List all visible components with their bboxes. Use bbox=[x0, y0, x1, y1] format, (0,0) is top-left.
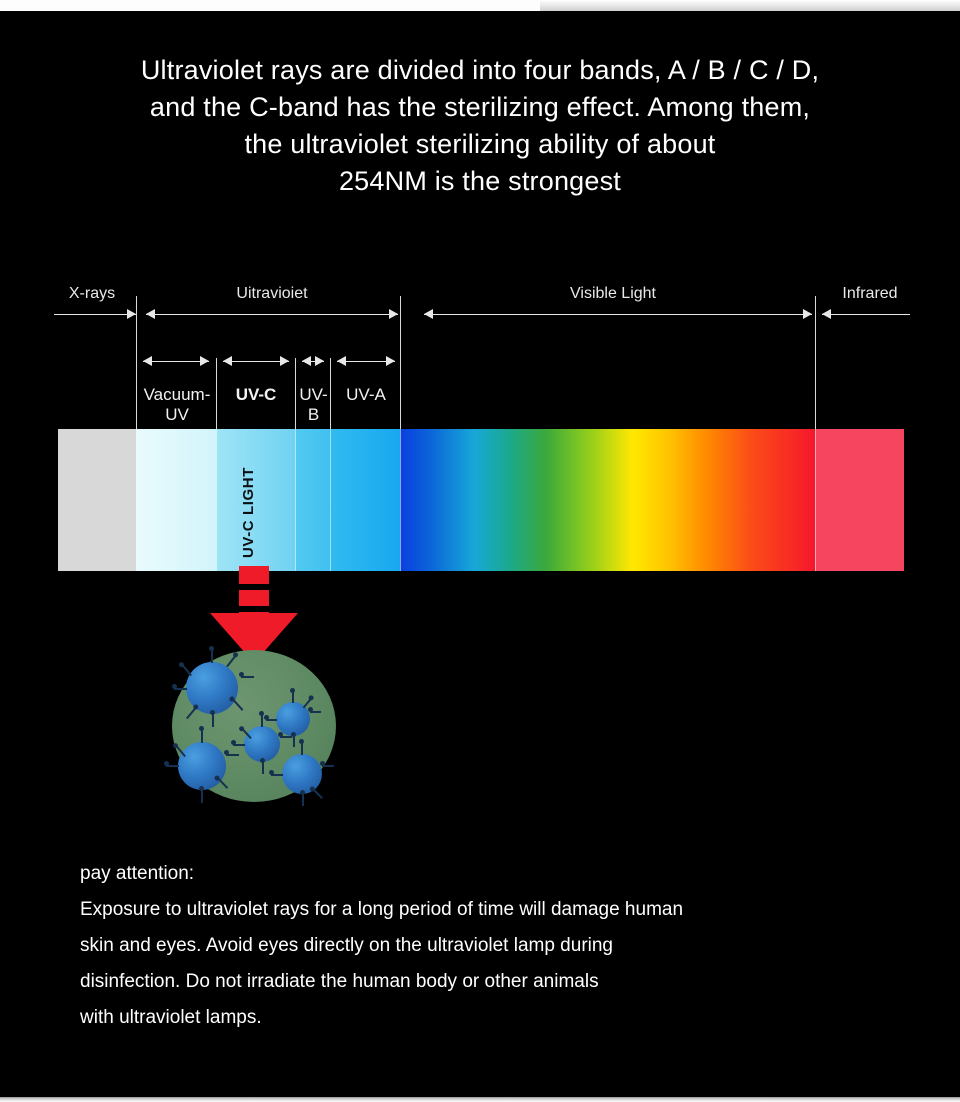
caution-block: pay attention: Exposure to ultraviolet r… bbox=[80, 856, 920, 1036]
virus-spike bbox=[226, 754, 239, 756]
virus-spike bbox=[226, 656, 236, 667]
virus-spike bbox=[242, 729, 252, 739]
arrow-head-left-icon bbox=[822, 309, 831, 319]
virus-spike bbox=[201, 730, 203, 743]
virus-spike bbox=[186, 708, 196, 719]
arrow-head-right-icon bbox=[803, 309, 812, 319]
arrow-head-right-icon bbox=[280, 356, 289, 366]
divider-vacuumuv-uvc bbox=[216, 358, 217, 429]
virus-spike bbox=[201, 790, 203, 803]
virus-spike bbox=[211, 650, 213, 663]
band-label-ultraviolet: Uitravioiet bbox=[148, 285, 396, 303]
subband-arrow-uva bbox=[337, 356, 395, 367]
virus-spike bbox=[241, 676, 254, 678]
arrow-head-right-icon bbox=[200, 356, 209, 366]
uvc-light-caption: UV-C LIGHT bbox=[240, 467, 257, 558]
virus-spike bbox=[280, 736, 292, 738]
spectrum-divider-uvb-uva bbox=[330, 429, 331, 571]
spectrum-divider-visible-infrared bbox=[815, 429, 816, 571]
virus-spike bbox=[182, 665, 192, 676]
arrow-shaft bbox=[424, 314, 812, 315]
arrow-head-right-icon bbox=[389, 309, 398, 319]
divider-xray-uv bbox=[136, 296, 137, 429]
virus-spike bbox=[313, 789, 323, 799]
band-arrow-ultraviolet bbox=[146, 309, 398, 320]
virus-spike bbox=[293, 736, 295, 747]
divider-uvc-uvb bbox=[295, 358, 296, 429]
virus-spike bbox=[310, 711, 321, 713]
subband-label-uva: UV-A bbox=[332, 385, 400, 405]
arrow-head-left-icon bbox=[146, 309, 155, 319]
arrow-head-left-icon bbox=[223, 356, 232, 366]
red-arrow-segment-1 bbox=[239, 566, 269, 584]
spectrum-segment-vacuum-uv bbox=[136, 429, 216, 571]
virus-particle bbox=[186, 662, 238, 714]
caution-line: disinfection. Do not irradiate the human… bbox=[80, 964, 920, 1000]
virus-spike bbox=[176, 746, 186, 757]
spectrum-divider-vacuumuv-uvc bbox=[216, 429, 217, 571]
virus-spike bbox=[301, 743, 303, 755]
virus-spike bbox=[266, 719, 277, 721]
divider-uv-visible bbox=[400, 296, 401, 429]
spectrum-segment-uvb bbox=[295, 429, 330, 571]
subband-label-uvb: UV- B bbox=[297, 385, 330, 425]
caution-heading: pay attention: bbox=[80, 856, 920, 892]
band-label-xrays: X-rays bbox=[48, 285, 136, 303]
arrow-shaft bbox=[822, 314, 910, 315]
arrow-head-right-icon bbox=[127, 309, 136, 319]
arrow-shaft bbox=[54, 314, 136, 315]
band-arrow-visible-light bbox=[424, 309, 812, 320]
spectrum-divider-uvc-uvb bbox=[295, 429, 296, 571]
band-label-infrared: Infrared bbox=[820, 285, 920, 303]
virus-spike bbox=[166, 765, 179, 767]
arrow-head-left-icon bbox=[143, 356, 152, 366]
virus-particle bbox=[282, 754, 322, 794]
spectrum-segment-xrays bbox=[58, 429, 136, 571]
divider-uvb-uva bbox=[330, 358, 331, 429]
virus-spike bbox=[262, 762, 264, 774]
virus-dish bbox=[172, 650, 336, 802]
virus-spike bbox=[261, 715, 263, 727]
virus-spike bbox=[292, 692, 294, 703]
arrow-head-left-icon bbox=[424, 309, 433, 319]
arrow-head-left-icon bbox=[337, 356, 346, 366]
subband-label-uvc: UV-C bbox=[218, 385, 294, 405]
arrow-head-right-icon bbox=[386, 356, 395, 366]
spectrum-segment-visible-light bbox=[400, 429, 815, 571]
virus-spike bbox=[218, 778, 228, 789]
subband-arrow-vacuum-uv bbox=[143, 356, 209, 367]
virus-particle bbox=[244, 726, 280, 762]
red-arrow-segment-2 bbox=[239, 590, 269, 606]
virus-spike bbox=[302, 794, 304, 806]
virus-spike bbox=[233, 699, 244, 711]
spectrum-bar bbox=[58, 429, 904, 571]
subband-arrow-uvc bbox=[223, 356, 289, 367]
spectrum-segment-uva bbox=[330, 429, 400, 571]
spectrum-segment-infrared bbox=[815, 429, 904, 571]
subband-label-vacuum-uv: Vacuum- UV bbox=[138, 385, 216, 425]
arrow-head-right-icon bbox=[315, 356, 324, 366]
virus-spike bbox=[174, 688, 187, 690]
band-label-visible-light: Visible Light bbox=[418, 285, 808, 303]
band-arrow-xrays bbox=[54, 309, 136, 320]
arrow-shaft bbox=[146, 314, 398, 315]
arrow-head-left-icon bbox=[302, 356, 311, 366]
caution-line: skin and eyes. Avoid eyes directly on th… bbox=[80, 928, 920, 964]
virus-spike bbox=[212, 714, 214, 727]
subband-arrow-uvb bbox=[302, 356, 324, 367]
divider-visible-infrared bbox=[815, 296, 816, 429]
caution-line: with ultraviolet lamps. bbox=[80, 1000, 920, 1036]
spectrum-divider-uv-visible bbox=[400, 429, 401, 571]
virus-particle bbox=[276, 702, 310, 736]
virus-particle bbox=[178, 742, 226, 790]
virus-spike bbox=[271, 774, 283, 776]
virus-spike bbox=[322, 765, 334, 767]
band-arrow-infrared bbox=[822, 309, 910, 320]
caution-line: Exposure to ultraviolet rays for a long … bbox=[80, 892, 920, 928]
virus-spike bbox=[233, 744, 245, 746]
